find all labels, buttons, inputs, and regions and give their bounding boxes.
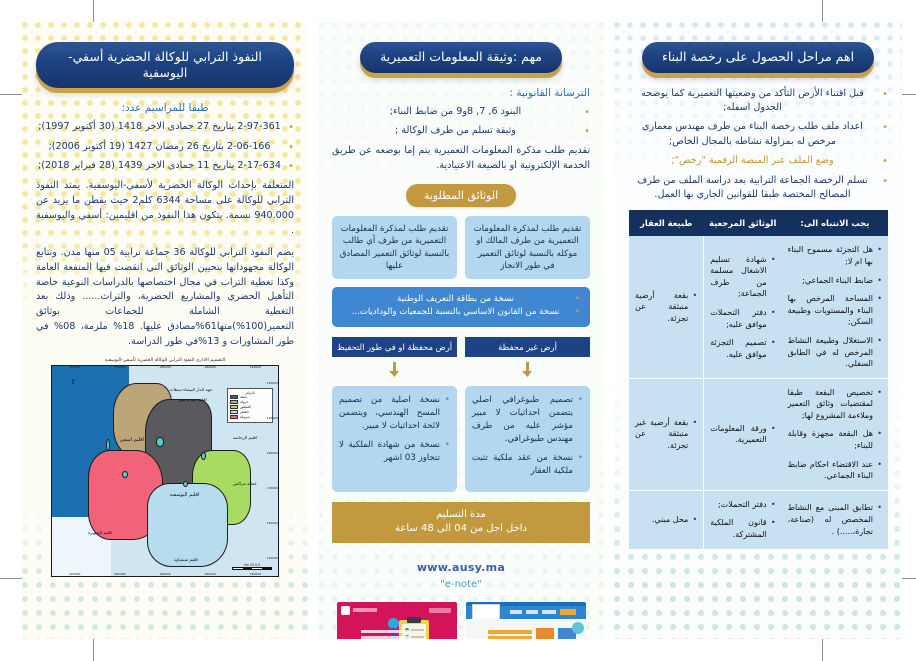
map-region-label: اقليم سيدي بنور xyxy=(179,397,207,402)
flag-registered-land: أرض محفظة او في طور التحفيظ xyxy=(332,337,457,358)
administrative-map: التقسيم الاداري للنفوذ الترابي للوكالة ا… xyxy=(36,358,294,577)
cell-documents: دفتر التحملات; قانون الملكية المشتركة. xyxy=(704,490,782,549)
branch-doc-item: نسخة اصلية من تصميم المسح الهندسي، ويتضم… xyxy=(339,394,450,433)
cell-property-type: بقعة أرضية غير منبثقة عن تجزئة. xyxy=(629,378,704,490)
request-cards-row: تقديم طلب لمذكرة المعلومات التعميرية من … xyxy=(332,216,590,279)
video-thumbnails xyxy=(332,602,590,639)
map-region-label: اقليم شيشاوة xyxy=(174,557,198,562)
branch-card-unregistered: تصميم طبوغرافي اصلي يتضمن احداثيات لا مب… xyxy=(465,386,590,491)
e-note-video-thumbnail[interactable] xyxy=(337,602,457,639)
column-header-notes: يجب الانتباه الى: xyxy=(782,210,888,236)
decrees-title: طبقا للمراسيم عدد: xyxy=(36,102,294,114)
ribbon-wrap-territorial: النفوذ الترابي للوكالة الحضرية أسفي-اليو… xyxy=(36,42,294,88)
territorial-paragraph-2: يضم النفوذ الترابي للوكالة 36 جماعة تراب… xyxy=(36,246,294,350)
common-doc-item: نسخة من القانون الاساسي بالنسبة للجمعيات… xyxy=(342,306,580,319)
territorial-paragraph-1: المتعلقة بإحداث الوكالة الحضرية لأسفي-ال… xyxy=(36,179,294,238)
document-item: تصميم التجزئة موافق عليه. xyxy=(710,337,775,360)
branch-doc-item: تصميم طبوغرافي اصلي يتضمن احداثيات لا مب… xyxy=(472,394,583,446)
table-header: يجب الانتباه الى: الوثائق المرجعية طبيعة… xyxy=(629,210,889,236)
note-item: تطابق المبنى مع النشاط المخصص له (صناعة،… xyxy=(788,502,882,537)
legend-swatch xyxy=(230,405,238,409)
legend-label: شروقة xyxy=(240,415,250,419)
branch-card-registered: نسخة اصلية من تصميم المسح الهندسي، ويتضم… xyxy=(332,386,457,491)
document-item: دفتر التحملات; xyxy=(710,499,775,511)
note-item: ضابط البناء الجماعي; xyxy=(788,275,882,287)
cell-notes: تطابق المبنى مع النشاط المخصص له (صناعة،… xyxy=(782,490,888,549)
permit-step: تسلم الرخصة الجماعة الترابية بعد دراسة ا… xyxy=(628,174,888,203)
document-item: ورقة المعلومات التعميرية. xyxy=(710,423,775,446)
legend-row: الشعر xyxy=(230,410,270,414)
legal-framework-title: الترسانة القانونية : xyxy=(332,87,590,99)
map-x-ticks-top: 140000 160000 180000 200000 220000 xyxy=(52,365,278,369)
map-region-label: اقليم الصويرة xyxy=(88,530,112,535)
common-doc-item: نسخة من بطاقة التعريف الوطنية xyxy=(342,293,580,306)
column-header-property-type: طبيعة العقار xyxy=(629,210,704,236)
legend-swatch xyxy=(230,410,238,414)
required-documents-pill: الوثائق المطلوبة xyxy=(406,184,516,207)
legend-swatch xyxy=(230,395,238,399)
branch-doc-item: نسخة من عقد ملكية تثبت ملكية العقار xyxy=(472,452,583,478)
table-header-row: يجب الانتباه الى: الوثائق المرجعية طبيعة… xyxy=(629,210,889,236)
cell-documents: ورقة المعلومات التعميرية. xyxy=(704,378,782,490)
column-header-documents: الوثائق المرجعية xyxy=(704,210,782,236)
legend-label: الشعر xyxy=(240,410,249,414)
document-item: قانون الملكية المشتركة. xyxy=(710,517,775,540)
decree-item: 2-06-166 بتاريخ 26 رمضان 1427 (19 أكتوبر… xyxy=(36,140,294,154)
permit-step: قبل اقتناء الأرض التأكد من وضعيتها التعم… xyxy=(628,87,888,116)
legend-swatch xyxy=(230,415,238,419)
request-card-any-applicant: تقديم طلب لمذكرة المعلومات التعميرية من … xyxy=(332,216,457,279)
map-y-ticks-right: 230000 210000 190000 170000 150000 13000… xyxy=(267,366,278,576)
ribbon-wrap-urban-doc: مهم :وثيقة المعلومات التعميرية xyxy=(332,42,590,73)
panel-territorial-influence: النفوذ الترابي للوكالة الحضرية أسفي-اليو… xyxy=(22,22,308,639)
map-region-label: اقليم الرحامنة xyxy=(233,435,257,440)
request-card-owner: تقديم طلب لمذكرة المعلومات التعميرية من … xyxy=(465,216,590,279)
land-type-flags: أرض غير محفظة أرض محفظة او في طور التحفي… xyxy=(332,337,590,358)
delivery-time-value: داخل اجل من 04 الى 48 ساعة xyxy=(340,522,582,537)
legal-bullet: البنود 6, 7, 8و9 من ضابط البناء; xyxy=(332,105,590,119)
map-caption: التقسيم الاداري للنفوذ الترابي للوكالة ا… xyxy=(36,358,294,363)
heading-territorial-influence: النفوذ الترابي للوكالة الحضرية أسفي-اليو… xyxy=(36,42,294,88)
legal-framework-list: البنود 6, 7, 8و9 من ضابط البناء; وثيقة ت… xyxy=(332,105,590,139)
property-type-item: محل مبني. xyxy=(635,514,697,526)
arrow-row xyxy=(332,362,590,380)
branch-documents-row: تصميم طبوغرافي اصلي يتضمن احداثيات لا مب… xyxy=(332,386,590,491)
flag-unregistered-land: أرض غير محفظة xyxy=(465,337,590,358)
down-arrow-icon xyxy=(465,362,590,380)
note-item: هل التجزئة مسموح البناء بها ام لا; xyxy=(788,244,882,267)
legend-row: شروقة xyxy=(230,415,270,419)
note-item: الاستغلال وطبيعة النشاط المرخص له في الط… xyxy=(788,335,882,370)
branch-doc-item: نسخة من شهادة الملكية لا تتجاوز 03 اشهر xyxy=(339,439,450,465)
legend-label: القنطور xyxy=(240,405,251,409)
legal-paragraph: تقديم طلب مذكرة المعلومات التعميرية يتم … xyxy=(332,144,590,174)
map-x-ticks-bottom: 140000 160000 180000 200000 220000 xyxy=(52,572,278,576)
note-item: تخصيص البقعة طبقا لمقتضيات وثائق التعمير… xyxy=(788,387,882,422)
property-type-item: بقعة أرضية منبثقة عن تجزئة. xyxy=(635,290,697,325)
table-row: هل التجزئة مسموح البناء بها ام لا; ضابط … xyxy=(629,236,889,378)
common-documents-band: نسخة من بطاقة التعريف الوطنية نسخة من ال… xyxy=(332,287,590,327)
delivery-time-title: مدة التسليم xyxy=(340,508,582,523)
map-region-label: اقليم اليوسفية xyxy=(170,492,200,498)
map-region-label: جهة الدار البيضاء-سطات xyxy=(170,387,213,392)
heading-urban-information-document: مهم :وثيقة المعلومات التعميرية xyxy=(360,42,562,73)
e-note-label: "e-note" xyxy=(332,579,590,590)
cell-property-type: بقعة أرضية منبثقة عن تجزئة. xyxy=(629,236,704,378)
note-item: عند الاقتضاء احكام ضابط البناء الجماعي. xyxy=(788,459,882,482)
map-frame: ⇧ الدوائر جمعة جزولة الق xyxy=(51,365,279,577)
legend-row: القنطور xyxy=(230,405,270,409)
cell-notes: تخصيص البقعة طبقا لمقتضيات وثائق التعمير… xyxy=(782,378,888,490)
delivery-time-box: مدة التسليم داخل اجل من 04 الى 48 ساعة xyxy=(332,502,590,543)
table-body: هل التجزئة مسموح البناء بها ام لا; ضابط … xyxy=(629,236,889,549)
panel-urban-information-document: مهم :وثيقة المعلومات التعميرية الترسانة … xyxy=(318,22,604,639)
note-item: هل البقعة مجهزة وقابلة للبناء; xyxy=(788,428,882,451)
legend-label: جمعة xyxy=(240,395,248,399)
property-type-item: بقعة أرضية غير منبثقة عن تجزئة. xyxy=(635,417,697,452)
legend-swatch xyxy=(230,400,238,404)
website-link[interactable]: www.ausy.ma xyxy=(332,561,590,574)
brochure-page: النفوذ الترابي للوكالة الحضرية أسفي-اليو… xyxy=(0,0,916,661)
decrees-list: 2-97-361 بتاريخ 27 جمادى الاخر 1418 (30 … xyxy=(36,120,294,173)
table-row: تطابق المبنى مع النشاط المخصص له (صناعة،… xyxy=(629,490,889,549)
cell-notes: هل التجزئة مسموح البناء بها ام لا; ضابط … xyxy=(782,236,888,378)
document-item: دفتر التحملات موافق عليه; xyxy=(710,307,775,330)
cell-property-type: محل مبني. xyxy=(629,490,704,549)
legal-bullet: وثيقة تسلم من طرف الوكالة ; xyxy=(332,124,590,138)
heading-building-permit-steps: اهم مراحل الحصول على رخصة البناء xyxy=(642,42,874,73)
permit-step: اعداد ملف طلب رخصة البناء من طرف مهندس م… xyxy=(628,120,888,149)
ribbon-wrap-building-permit: اهم مراحل الحصول على رخصة البناء xyxy=(628,42,888,73)
down-arrow-icon xyxy=(332,362,457,380)
table-row: تخصيص البقعة طبقا لمقتضيات وثائق التعمير… xyxy=(629,378,889,490)
permit-requirements-table: يجب الانتباه الى: الوثائق المرجعية طبيعة… xyxy=(628,210,888,549)
decree-item: 2-97-361 بتاريخ 27 جمادى الاخر 1418 (30 … xyxy=(36,120,294,134)
cell-documents: شهادة تسليم الاشغال مسلمة من طرف الجماعة… xyxy=(704,236,782,378)
note-item: المساحة المرخص بها البناء والمستويات وطب… xyxy=(788,293,882,328)
decree-item: 2-17-634 بتاريخ 11 جمادى الاخر 1439 (28 … xyxy=(36,159,294,173)
document-item: شهادة تسليم الاشغال مسلمة من طرف الجماعة… xyxy=(710,254,775,300)
legend-label: جزولة xyxy=(240,400,248,404)
map-region-label: اقليم اسفي xyxy=(120,437,144,443)
permit-step-digital-platform: وضع الملف عبر المنصة الرقمية "رخص"; xyxy=(628,154,888,168)
permit-steps-list: قبل اقتناء الأرض التأكد من وضعيتها التعم… xyxy=(628,87,888,203)
map-region-label: عمالة مراكش xyxy=(233,481,257,486)
legend-row: جمعة xyxy=(230,395,270,399)
legend-row: جزولة xyxy=(230,400,270,404)
map-lake xyxy=(122,471,128,478)
panel-building-permit: اهم مراحل الحصول على رخصة البناء قبل اقت… xyxy=(614,22,902,639)
e-note-portal-thumbnail[interactable] xyxy=(466,602,586,639)
north-arrow-icon: ⇧ xyxy=(70,378,76,386)
